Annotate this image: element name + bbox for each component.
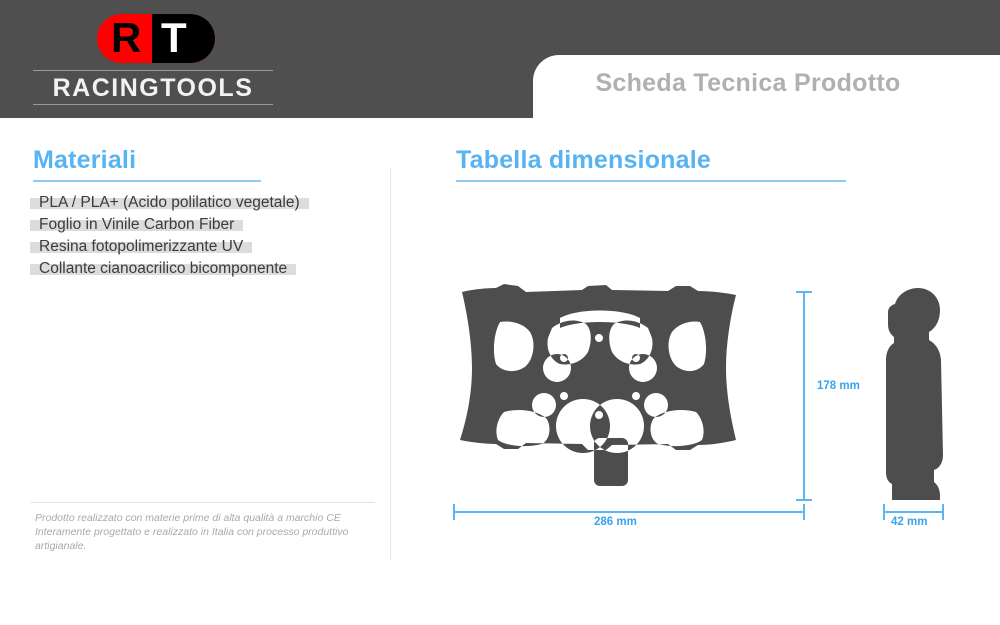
drawing-svg bbox=[400, 200, 1000, 560]
title-panel: Scheda Tecnica Prodotto bbox=[533, 55, 1000, 118]
footer-divider bbox=[30, 502, 375, 503]
material-tag: PLA / PLA+ (Acido polilatico vegetale) bbox=[30, 198, 309, 209]
wheel-side-view bbox=[886, 288, 943, 500]
material-tag: Resina fotopolimerizzante UV bbox=[30, 242, 252, 253]
materials-heading-rule bbox=[33, 180, 261, 182]
material-tag: Foglio in Vinile Carbon Fiber bbox=[30, 220, 243, 231]
wheel-front-view bbox=[460, 284, 736, 486]
footer-note: Prodotto realizzato con materie prime di… bbox=[35, 511, 375, 553]
wheel-plate-silhouette bbox=[460, 284, 736, 486]
page-title: Scheda Tecnica Prodotto bbox=[533, 69, 963, 98]
logo-letter-r: R bbox=[111, 15, 141, 61]
dimensional-drawing: 178 mm 286 mm 42 mm bbox=[400, 200, 1000, 560]
dimensions-heading-rule bbox=[456, 180, 846, 182]
material-tag: Collante cianoacrilico bicomponente bbox=[30, 264, 296, 275]
depth-dimension-label: 42 mm bbox=[891, 516, 927, 528]
dimensions-heading: Tabella dimensionale bbox=[456, 146, 711, 175]
height-dimension-label: 178 mm bbox=[817, 380, 860, 392]
materials-heading: Materiali bbox=[33, 146, 136, 175]
wheel-profile-silhouette bbox=[886, 288, 943, 500]
width-dimension-label: 286 mm bbox=[594, 516, 637, 528]
brand-wordmark: RACINGTOOLS bbox=[33, 70, 273, 105]
logo-letter-t: T bbox=[161, 15, 187, 61]
brand-logo: R T RACINGTOOLS bbox=[33, 14, 323, 109]
column-divider bbox=[390, 168, 391, 560]
logo-pill-icon: R T bbox=[97, 14, 215, 63]
materials-list: PLA / PLA+ (Acido polilatico vegetale) F… bbox=[30, 198, 370, 286]
page-header: R T RACINGTOOLS Scheda Tecnica Prodotto bbox=[0, 0, 1000, 118]
